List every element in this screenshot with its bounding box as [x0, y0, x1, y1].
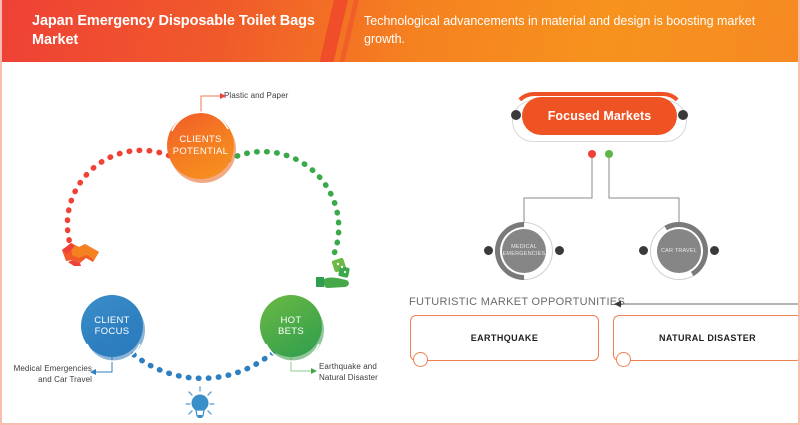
focused-markets-label: Focused Markets — [548, 109, 652, 123]
node-client-focus[interactable]: CLIENT FOCUS — [81, 295, 143, 357]
focused-markets-button[interactable]: Focused Markets — [522, 97, 677, 135]
focused-markets-left-dot — [511, 110, 521, 120]
page-title: Japan Emergency Disposable Toilet Bags M… — [32, 12, 322, 50]
header-subtitle: Technological advancements in material a… — [364, 12, 784, 48]
dotted-arc-green — [214, 132, 359, 277]
label-earthquake-natural-disaster: Earthquake and Natural Disaster — [319, 362, 399, 383]
focused-markets-right-dot — [678, 110, 688, 120]
focused-markets-group[interactable]: Focused Markets — [506, 94, 691, 146]
opportunity-box-natural-disaster[interactable]: NATURAL DISASTER — [613, 315, 800, 361]
money-hand-icon — [314, 257, 356, 293]
lightbulb-icon — [184, 385, 216, 421]
opportunity-marker-earthquake — [413, 352, 428, 367]
medical-emergencies-label-1: MEDICAL — [511, 244, 537, 251]
node-client-focus-label-2: FOCUS — [95, 326, 130, 338]
node-hot-bets-label-2: BETS — [278, 326, 304, 338]
header-banner: Japan Emergency Disposable Toilet Bags M… — [2, 0, 800, 62]
futuristic-arrow — [613, 298, 800, 310]
medical-emergencies-core: MEDICAL EMERGENCIES — [502, 229, 546, 273]
medical-emergencies-label-2: EMERGENCIES — [503, 251, 546, 258]
opportunity-marker-natural-disaster — [616, 352, 631, 367]
opportunity-box-earthquake[interactable]: EARTHQUAKE — [410, 315, 599, 361]
node-clients-potential-label-2: POTENTIAL — [173, 146, 229, 158]
infographic-page: Japan Emergency Disposable Toilet Bags M… — [0, 0, 800, 425]
signal-dot-green — [605, 150, 613, 158]
label-plastic-and-paper: Plastic and Paper — [224, 91, 288, 102]
medical-emergencies-right-dot — [555, 246, 564, 255]
node-car-travel[interactable]: CAR TRAVEL — [650, 222, 708, 280]
car-travel-label-1: CAR TRAVEL — [661, 248, 697, 255]
node-client-focus-label-1: CLIENT — [94, 315, 130, 327]
right-panel: Focused Markets MEDICAL EMERGENCIES — [402, 62, 800, 425]
node-clients-potential-label-1: CLIENTS — [179, 134, 221, 146]
opportunity-label-natural-disaster: NATURAL DISASTER — [659, 333, 756, 343]
node-hot-bets-label-1: HOT — [281, 315, 302, 327]
signal-dot-red — [588, 150, 596, 158]
node-medical-emergencies[interactable]: MEDICAL EMERGENCIES — [495, 222, 553, 280]
focused-markets-connector-tree — [522, 158, 687, 224]
opportunity-label-earthquake: EARTHQUAKE — [471, 333, 539, 343]
node-hot-bets[interactable]: HOT BETS — [260, 295, 322, 357]
futuristic-opportunities-heading: FUTURISTIC MARKET OPPORTUNITIES — [409, 296, 625, 308]
handshake-icon — [58, 236, 104, 272]
label-medical-emergencies: Medical Emergencies and Car Travel — [10, 364, 92, 385]
car-travel-core: CAR TRAVEL — [657, 229, 701, 273]
cycle-diagram: CLIENTS POTENTIAL CLIENT FOCUS HOT BETS … — [2, 62, 402, 425]
medical-emergencies-left-dot — [484, 246, 493, 255]
car-travel-left-dot — [639, 246, 648, 255]
car-travel-right-dot — [710, 246, 719, 255]
node-clients-potential[interactable]: CLIENTS POTENTIAL — [167, 112, 234, 179]
